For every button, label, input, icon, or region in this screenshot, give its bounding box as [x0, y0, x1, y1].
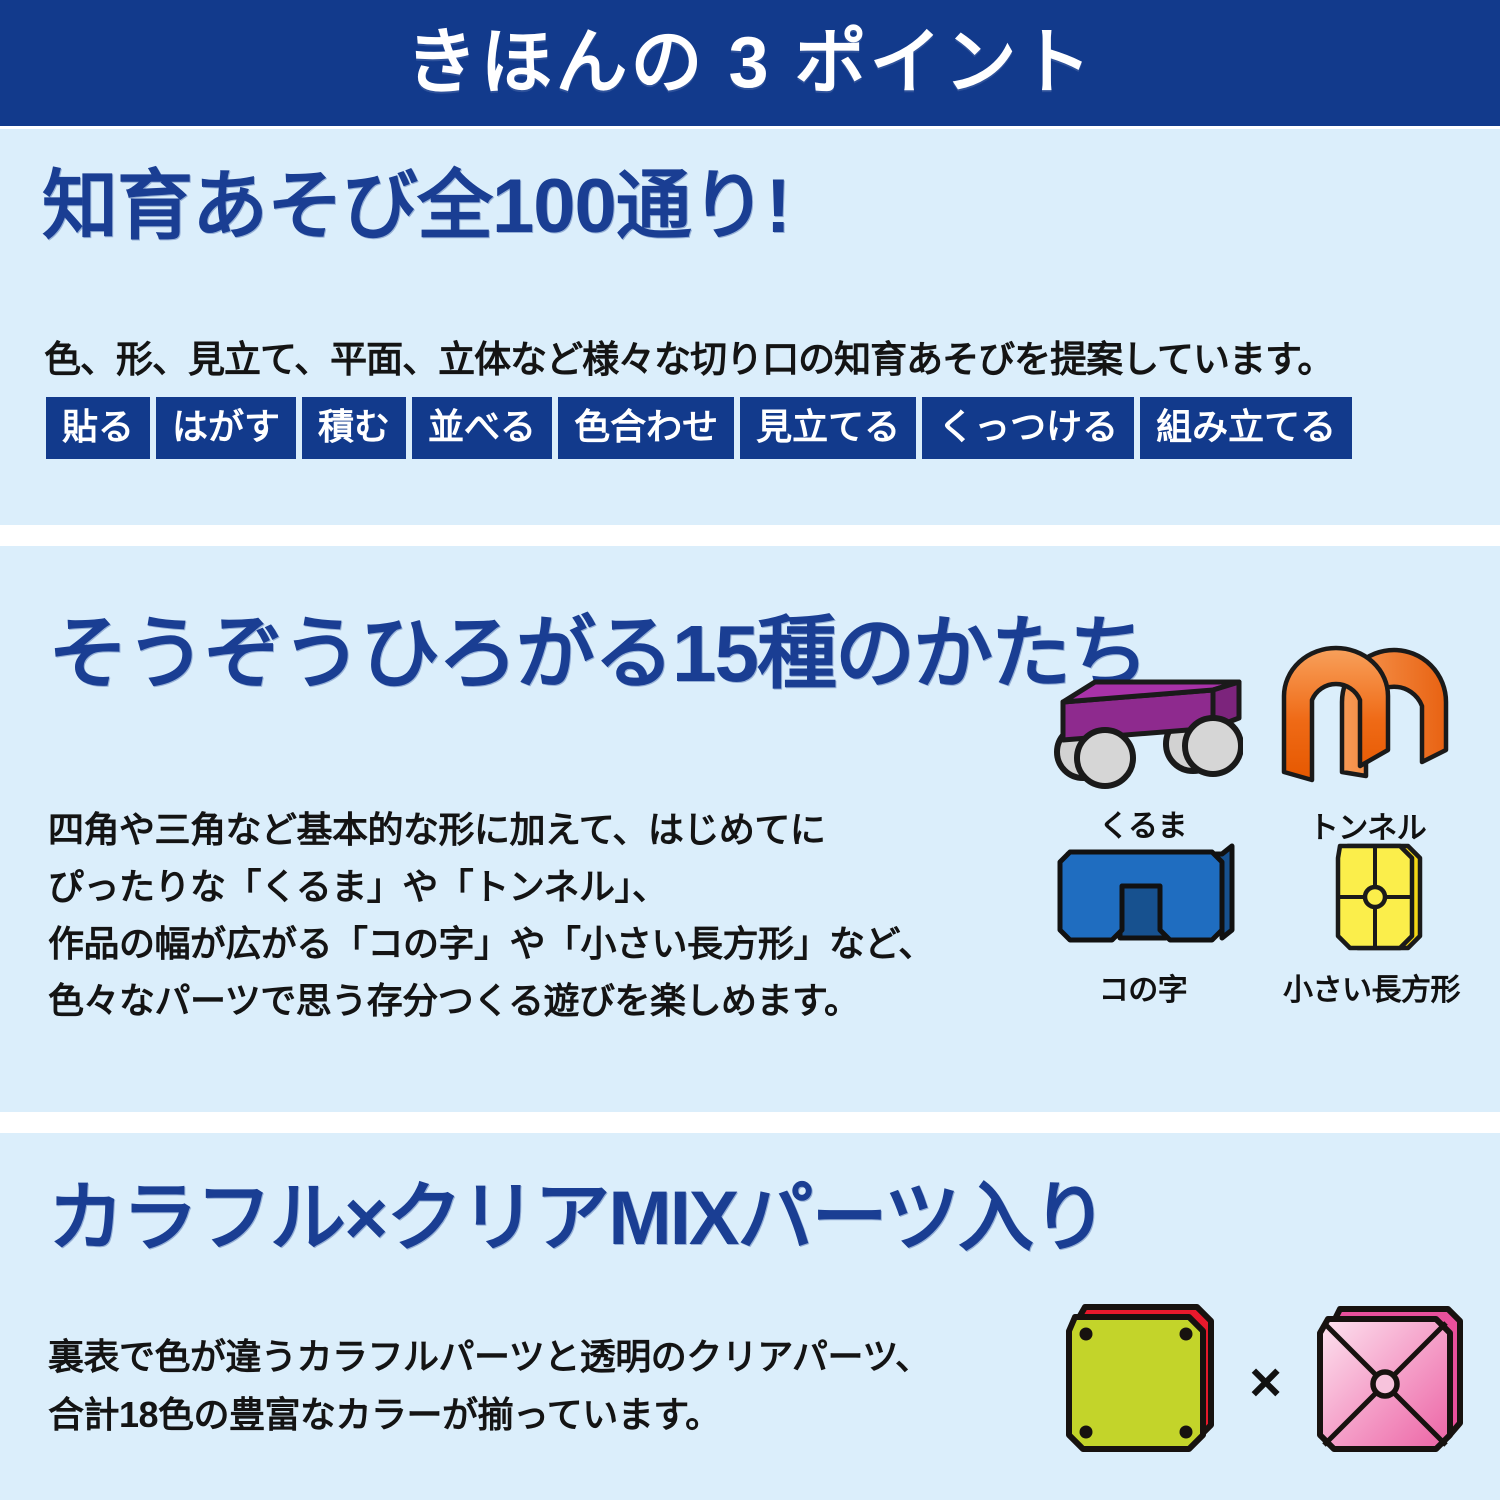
body-line: ぴったりな「くるま」や「トンネル」、	[48, 858, 934, 915]
header-bar: きほんの 3 ポイント	[0, 0, 1500, 126]
tag-item[interactable]: 色合わせ	[558, 397, 734, 459]
multiply-operator: ×	[1249, 1354, 1282, 1410]
section-1-heading: 知育あそび全100通り!	[42, 169, 790, 245]
tag-item[interactable]: 見立てる	[740, 397, 916, 459]
body-line: 作品の幅が広がる「コの字」や「小さい長方形」など、	[48, 915, 934, 972]
colorful-square-icon	[1061, 1301, 1221, 1462]
section-point-3: カラフル×クリアMIXパーツ入り 裏表で色が違うカラフルパーツと透明のクリアパー…	[0, 1133, 1500, 1500]
play-type-tag-list: 貼る はがす 積む 並べる 色合わせ 見立てる くっつける 組み立てる	[46, 397, 1352, 459]
body-line: 裏表で色が違うカラフルパーツと透明のクリアパーツ、	[48, 1328, 930, 1386]
tag-item[interactable]: 並べる	[412, 397, 552, 459]
tunnel-icon	[1260, 640, 1475, 801]
section-2-heading: そうぞうひろがる15種のかたち	[48, 614, 1147, 694]
section-point-2: そうぞうひろがる15種のかたち 四角や三角など基本的な形に加えて、はじめてに ぴ…	[0, 546, 1500, 1112]
section-3-heading: カラフル×クリアMIXパーツ入り	[48, 1181, 1106, 1257]
body-line: 色々なパーツで思う存分つくる遊びを楽しめます。	[48, 972, 934, 1029]
section-point-1: 知育あそび全100通り! 色、形、見立て、平面、立体など様々な切り口の知育あそび…	[0, 129, 1500, 525]
body-line: 合計18色の豊富なカラーが揃っています。	[48, 1386, 930, 1444]
clear-square-icon	[1310, 1301, 1470, 1462]
mix-parts-illustration: ×	[1061, 1301, 1470, 1462]
section-2-body: 四角や三角など基本的な形に加えて、はじめてに ぴったりな「くるま」や「トンネル」…	[48, 801, 934, 1029]
shape-card-car: くるま	[1038, 666, 1248, 845]
body-line: 四角や三角など基本的な形に加えて、はじめてに	[48, 801, 934, 858]
shape-label: コの字	[1038, 965, 1248, 1009]
car-icon	[1038, 666, 1248, 799]
infographic-page: きほんの 3 ポイント 知育あそび全100通り! 色、形、見立て、平面、立体など…	[0, 0, 1500, 1500]
shape-card-small-rect: 小さい長方形	[1264, 838, 1479, 1009]
small-rectangle-icon	[1264, 838, 1479, 963]
shape-label: 小さい長方形	[1264, 965, 1479, 1009]
section-1-body: 色、形、見立て、平面、立体など様々な切り口の知育あそびを提案しています。	[44, 329, 1333, 383]
u-shape-icon	[1038, 838, 1248, 963]
tag-item[interactable]: 組み立てる	[1140, 397, 1352, 459]
tag-item[interactable]: 貼る	[46, 397, 150, 459]
shape-card-tunnel: トンネル	[1260, 640, 1475, 847]
shape-card-u-shape: コの字	[1038, 838, 1248, 1009]
section-3-body: 裏表で色が違うカラフルパーツと透明のクリアパーツ、 合計18色の豊富なカラーが揃…	[48, 1328, 930, 1444]
tag-item[interactable]: くっつける	[922, 397, 1134, 459]
tag-item[interactable]: はがす	[156, 397, 296, 459]
page-title: きほんの 3 ポイント	[405, 27, 1094, 99]
tag-item[interactable]: 積む	[302, 397, 406, 459]
